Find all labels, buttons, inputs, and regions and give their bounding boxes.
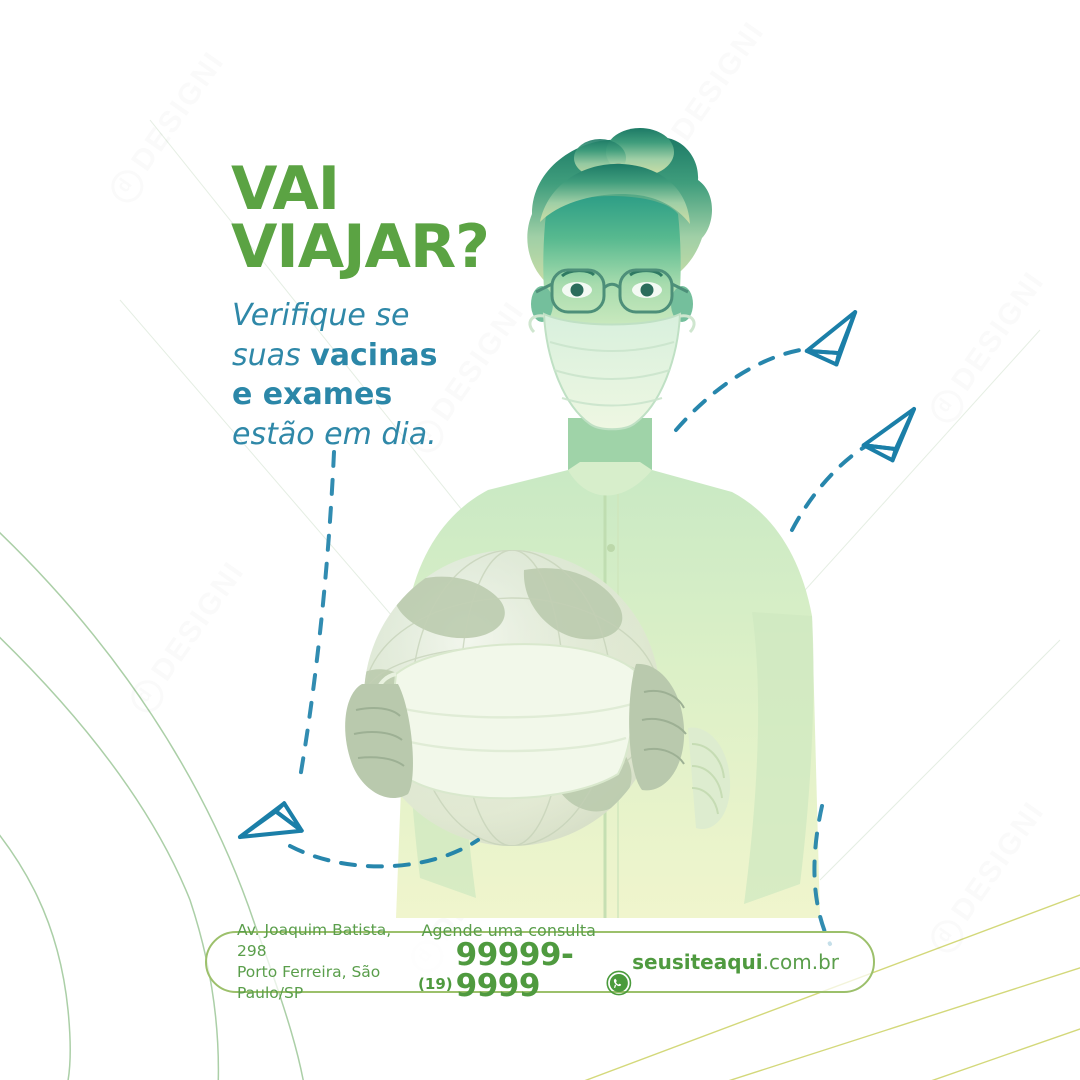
subtitle: Verifique se suas vacinas e exames estão… bbox=[232, 296, 532, 454]
subtitle-bold-exames: e exames bbox=[232, 377, 392, 412]
watermark-mark-icon: d bbox=[925, 914, 970, 959]
watermark-mark-icon: d bbox=[105, 164, 150, 209]
whatsapp-icon[interactable] bbox=[606, 966, 632, 1000]
address-block: Av. Joaquim Batista, 298 Porto Ferreira,… bbox=[207, 920, 414, 1004]
address-line-2: Porto Ferreira, São Paulo/SP bbox=[237, 962, 414, 1004]
subtitle-bold-vacinas: vacinas bbox=[310, 338, 437, 373]
headline-line-1: VAI bbox=[231, 160, 561, 218]
watermark-text: DESIGNI bbox=[945, 265, 1051, 396]
phone-block[interactable]: Agende uma consulta (19) 99999-9999 bbox=[414, 922, 632, 1002]
subtitle-line-1: Verifique se bbox=[232, 296, 532, 336]
subtitle-line-2-prefix: suas bbox=[232, 338, 310, 373]
website-suffix: .com.br bbox=[763, 950, 839, 974]
address-line-1: Av. Joaquim Batista, 298 bbox=[237, 920, 414, 962]
watermark-text: DESIGNI bbox=[945, 795, 1051, 926]
phone-area-code: (19) bbox=[418, 975, 453, 1002]
paper-plane-icon bbox=[240, 794, 307, 852]
watermark-mark-icon: d bbox=[125, 674, 170, 719]
website-name: seusiteaqui bbox=[632, 950, 763, 974]
headline: VAI VIAJAR? bbox=[231, 160, 561, 276]
watermark-text: DESIGNI bbox=[145, 555, 251, 686]
phone-number: 99999-9999 bbox=[456, 940, 600, 1002]
watermark-text: DESIGNI bbox=[125, 45, 231, 176]
headline-line-2: VIAJAR? bbox=[231, 218, 561, 276]
social-media-post: dDESIGNI dDESIGNI dDESIGNI dDESIGNI dDES… bbox=[0, 0, 1080, 1080]
watermark-mark-icon: d bbox=[925, 384, 970, 429]
website-label[interactable]: seusiteaqui.com.br bbox=[632, 950, 873, 974]
footer-contact-bar: Av. Joaquim Batista, 298 Porto Ferreira,… bbox=[205, 931, 875, 993]
subtitle-line-4: estão em dia. bbox=[232, 415, 532, 455]
